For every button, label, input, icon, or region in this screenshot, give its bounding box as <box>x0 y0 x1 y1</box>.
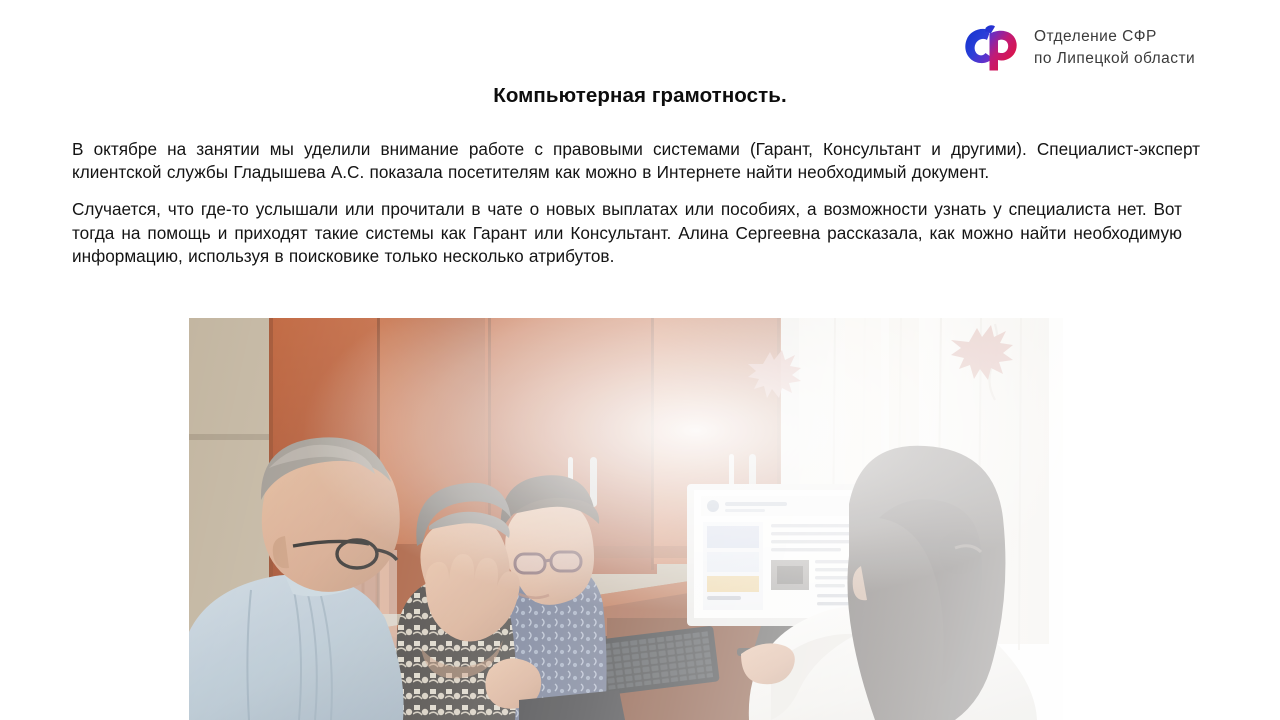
sfr-logo-icon <box>962 22 1020 74</box>
paragraph-2: Случается, что где-то услышали или прочи… <box>72 198 1182 268</box>
page-title: Компьютерная грамотность. <box>0 84 1280 108</box>
header-brand: Отделение СФР по Липецкой области <box>962 22 1195 74</box>
brand-line-2: по Липецкой области <box>1034 48 1195 70</box>
body-copy: В октябре на занятии мы уделили внимание… <box>72 138 1200 268</box>
paragraph-1: В октябре на занятии мы уделили внимание… <box>72 138 1200 184</box>
slide-root: Отделение СФР по Липецкой области Компью… <box>0 0 1280 720</box>
classroom-photo <box>189 318 1063 720</box>
brand-line-1: Отделение СФР <box>1034 26 1195 48</box>
brand-text: Отделение СФР по Липецкой области <box>1034 26 1195 70</box>
